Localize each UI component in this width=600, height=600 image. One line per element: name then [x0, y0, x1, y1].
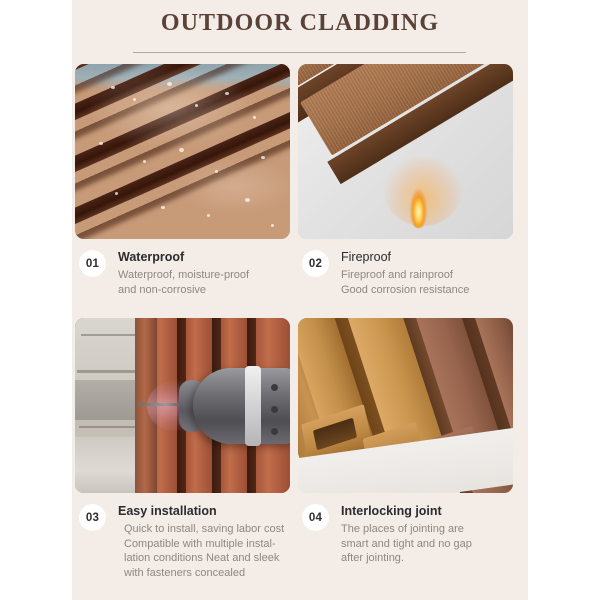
feature-number-badge: 02 [302, 250, 329, 277]
feature-title: Waterproof [118, 249, 290, 265]
feature-caption-03: 03 Easy installation Quick to install, s… [75, 503, 290, 580]
feature-number-badge: 01 [79, 250, 106, 277]
title-divider [133, 52, 466, 53]
page-title: OUTDOOR CLADDING [72, 10, 528, 37]
feature-card-03: 03 Easy installation Quick to install, s… [75, 318, 290, 580]
feature-title: Interlocking joint [341, 503, 513, 519]
feature-caption-01: 01 Waterproof Waterproof, moisture-proof… [75, 249, 290, 309]
feature-description: Waterproof, moisture-proof and non-corro… [118, 268, 290, 297]
beige-panel: OUTDOOR CLADDING [72, 0, 528, 600]
wet-decking-boards-photo [75, 64, 290, 239]
feature-title: Easy installation [118, 503, 290, 519]
feature-description: The places of jointing are smart and tig… [341, 522, 513, 566]
feature-description: Quick to install, saving labor cost Comp… [118, 522, 290, 580]
feature-card-04: 04 Interlocking joint The places of join… [298, 318, 513, 566]
feature-grid: 01 Waterproof Waterproof, moisture-proof… [72, 62, 528, 600]
feature-title: Fireproof [341, 249, 513, 265]
feature-number-badge: 04 [302, 504, 329, 531]
feature-caption-04: 04 Interlocking joint The places of join… [298, 503, 513, 566]
feature-number-badge: 03 [79, 504, 106, 531]
feature-description: Fireproof and rainproof Good corrosion r… [341, 268, 513, 297]
poster-header: OUTDOOR CLADDING [72, 0, 528, 62]
feature-card-02: 02 Fireproof Fireproof and rainproof Goo… [298, 64, 513, 309]
flame-under-plank-photo [298, 64, 513, 239]
power-drill-installation-photo [75, 318, 290, 493]
poster-root: OUTDOOR CLADDING [0, 0, 600, 600]
feature-card-01: 01 Waterproof Waterproof, moisture-proof… [75, 64, 290, 309]
interlocking-profiles-photo [298, 318, 513, 493]
feature-caption-02: 02 Fireproof Fireproof and rainproof Goo… [298, 249, 513, 309]
